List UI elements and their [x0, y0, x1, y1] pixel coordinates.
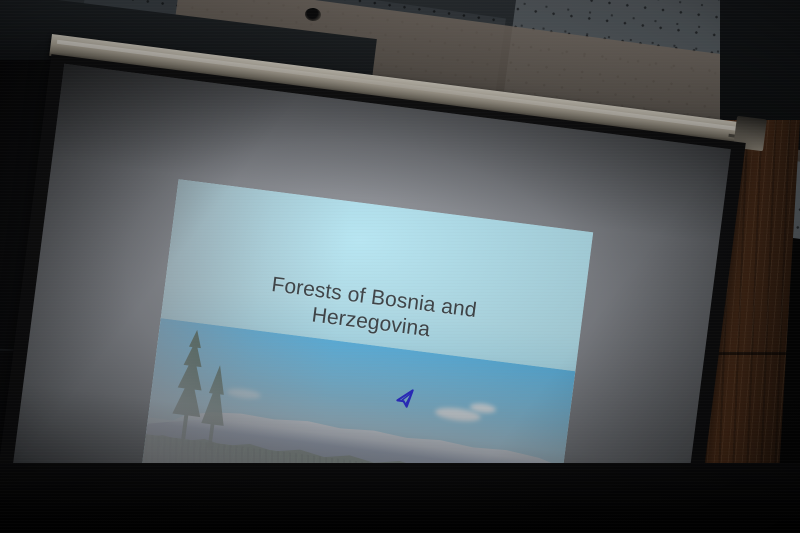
floor [0, 463, 800, 533]
projection-room-scene: Forests of Bosnia and Herzegovina prof. … [0, 0, 800, 533]
mouse-pointer-icon[interactable] [393, 388, 418, 412]
